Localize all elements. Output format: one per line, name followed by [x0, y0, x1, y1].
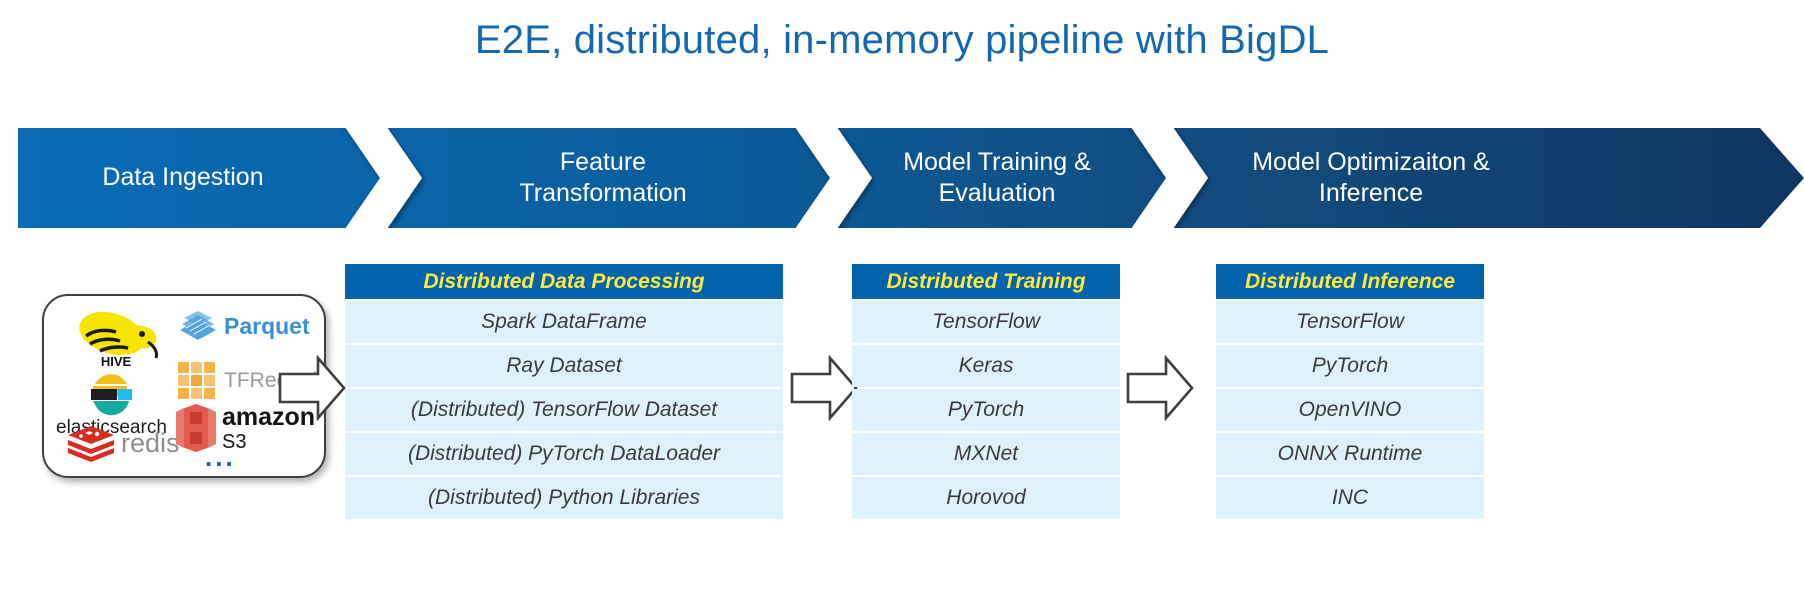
table-distributed-inference: Distributed Inference TensorFlow PyTorch… [1216, 264, 1484, 519]
table-header: Distributed Inference [1216, 264, 1484, 299]
table-row: Spark DataFrame [345, 301, 783, 343]
table-row: (Distributed) TensorFlow Dataset [345, 389, 783, 431]
table-header: Distributed Data Processing [345, 264, 783, 299]
table-row: (Distributed) Python Libraries [345, 477, 783, 519]
pipeline-banner: Data Ingestion Feature Transformation Mo… [18, 128, 1804, 228]
table-row: ONNX Runtime [1216, 433, 1484, 475]
table-row: TensorFlow [1216, 301, 1484, 343]
table-row: MXNet [852, 433, 1120, 475]
table-row: TensorFlow [852, 301, 1120, 343]
ellipsis-indicator: ... [205, 452, 236, 462]
table-row: PyTorch [852, 389, 1120, 431]
amazon-s3-logo-caption-sub: S3 [222, 432, 315, 452]
table-row: (Distributed) PyTorch DataLoader [345, 433, 783, 475]
page-title: E2E, distributed, in-memory pipeline wit… [0, 18, 1804, 63]
flow-arrow-processing-to-training [790, 352, 858, 429]
flow-arrow-training-to-inference [1126, 352, 1194, 429]
parquet-logo-caption: Parquet [224, 313, 310, 340]
slide-canvas: E2E, distributed, in-memory pipeline wit… [0, 0, 1804, 601]
table-row: INC [1216, 477, 1484, 519]
hive-logo: HIVE [70, 306, 162, 368]
table-row: Keras [852, 345, 1120, 387]
parquet-logo: Parquet [176, 310, 310, 342]
table-row: Horovod [852, 477, 1120, 519]
hive-logo-caption: HIVE [101, 354, 132, 368]
table-distributed-training: Distributed Training TensorFlow Keras Py… [852, 264, 1120, 519]
table-row: PyTorch [1216, 345, 1484, 387]
redis-logo-caption: redis [121, 428, 180, 459]
table-distributed-data-processing: Distributed Data Processing Spark DataFr… [345, 264, 783, 519]
table-row: Ray Dataset [345, 345, 783, 387]
table-header: Distributed Training [852, 264, 1120, 299]
redis-logo: redis [66, 424, 180, 462]
table-row: OpenVINO [1216, 389, 1484, 431]
flow-arrow-ingestion-to-processing [278, 352, 346, 429]
